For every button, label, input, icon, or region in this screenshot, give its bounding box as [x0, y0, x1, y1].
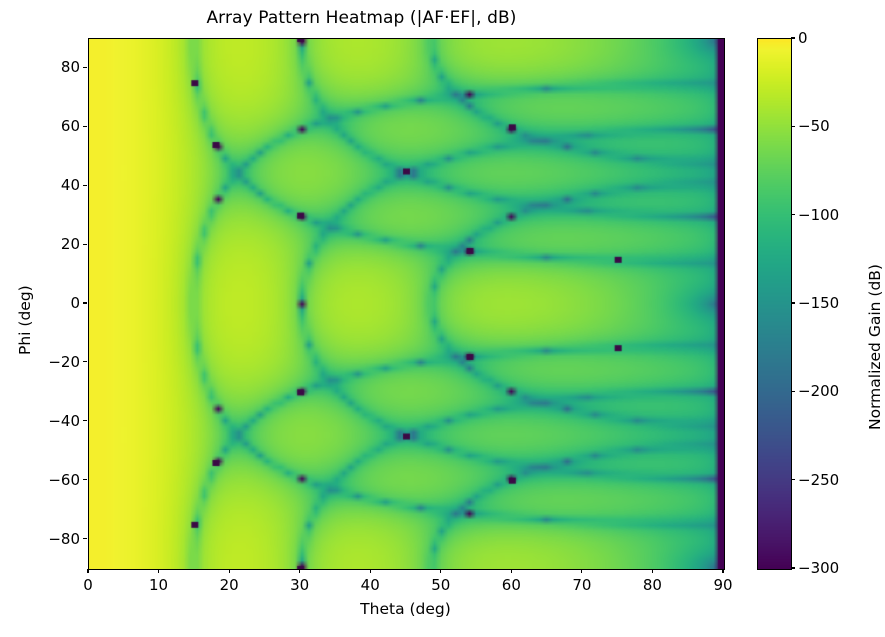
x-tick-mark — [299, 569, 300, 573]
x-tick-mark — [440, 569, 441, 573]
heatmap-image — [89, 39, 724, 569]
chart-title: Array Pattern Heatmap (|AF·EF|, dB) — [0, 8, 723, 28]
colorbar-tick-mark — [791, 567, 795, 568]
y-tick-label: 60 — [38, 117, 80, 135]
x-tick-mark — [722, 569, 723, 573]
y-tick-label: 0 — [38, 294, 80, 312]
x-tick-label: 0 — [83, 576, 93, 594]
colorbar-tick-label: −300 — [798, 559, 839, 577]
x-tick-label: 50 — [431, 576, 450, 594]
colorbar-tick-label: −100 — [798, 206, 839, 224]
colorbar-tick-label: −250 — [798, 471, 839, 489]
y-tick-mark — [83, 126, 87, 127]
colorbar-tick-mark — [791, 391, 795, 392]
x-tick-mark — [370, 569, 371, 573]
y-tick-mark — [83, 420, 87, 421]
x-tick-label: 20 — [220, 576, 239, 594]
heatmap-axes[interactable] — [88, 38, 725, 570]
x-tick-label: 40 — [361, 576, 380, 594]
y-tick-mark — [83, 479, 87, 480]
y-tick-mark — [83, 185, 87, 186]
y-tick-label: −80 — [38, 530, 80, 548]
colorbar-gradient — [758, 39, 791, 569]
x-axis-label: Theta (deg) — [88, 600, 723, 618]
y-tick-label: −40 — [38, 412, 80, 430]
x-tick-mark — [229, 569, 230, 573]
x-tick-label: 10 — [149, 576, 168, 594]
x-tick-mark — [581, 569, 582, 573]
x-tick-label: 30 — [290, 576, 309, 594]
y-tick-label: 40 — [38, 176, 80, 194]
colorbar-tick-mark — [791, 126, 795, 127]
x-tick-label: 90 — [713, 576, 732, 594]
colorbar-tick-mark — [791, 302, 795, 303]
x-tick-label: 60 — [502, 576, 521, 594]
colorbar-tick-label: −200 — [798, 382, 839, 400]
y-tick-label: −60 — [38, 471, 80, 489]
y-tick-mark — [83, 302, 87, 303]
colorbar-tick-mark — [791, 37, 795, 38]
y-tick-mark — [83, 538, 87, 539]
colorbar-tick-label: −150 — [798, 294, 839, 312]
x-tick-mark — [511, 569, 512, 573]
y-tick-mark — [83, 361, 87, 362]
y-tick-mark — [83, 67, 87, 68]
y-tick-label: −20 — [38, 353, 80, 371]
x-tick-label: 80 — [643, 576, 662, 594]
y-axis-label: Phi (deg) — [16, 285, 34, 355]
colorbar-tick-mark — [791, 479, 795, 480]
colorbar-tick-mark — [791, 214, 795, 215]
x-tick-mark — [87, 569, 88, 573]
colorbar[interactable] — [757, 38, 792, 570]
y-tick-mark — [83, 244, 87, 245]
colorbar-tick-label: 0 — [798, 29, 808, 47]
x-tick-label: 70 — [572, 576, 591, 594]
x-tick-mark — [158, 569, 159, 573]
colorbar-label: Normalized Gain (dB) — [866, 264, 884, 430]
figure-canvas: Array Pattern Heatmap (|AF·EF|, dB) 0102… — [0, 0, 885, 637]
x-tick-mark — [652, 569, 653, 573]
y-tick-label: 80 — [38, 58, 80, 76]
colorbar-tick-label: −50 — [798, 117, 830, 135]
y-tick-label: 20 — [38, 235, 80, 253]
